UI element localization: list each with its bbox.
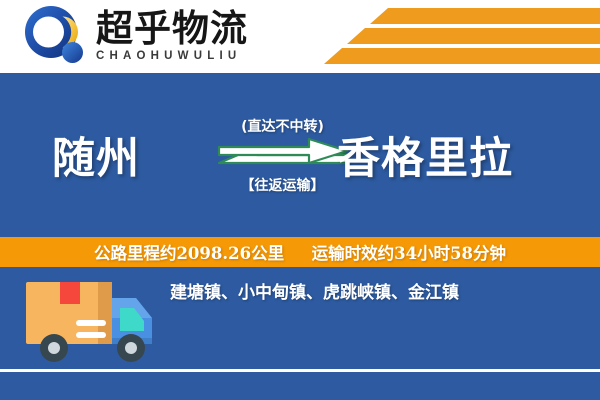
header: 超乎物流 CHAOHUWULIU: [0, 0, 600, 73]
info-bar: 公路里程约2098.26公里 运输时效约34小时58分钟: [0, 237, 600, 267]
served-towns-list: 建塘镇、小中甸镇、虎跳峡镇、金江镇: [170, 278, 459, 303]
brand-name-cn: 超乎物流: [96, 10, 248, 48]
speed-stripes-icon: [290, 0, 600, 73]
bidirectional-arrow-icon: [217, 137, 349, 173]
circle-crescent-logo-icon: [22, 4, 88, 68]
bottom-divider: [0, 369, 600, 372]
destination-city: 香格里拉: [337, 124, 513, 186]
delivery-truck-icon: [20, 272, 170, 368]
logistics-route-banner: 超乎物流 CHAOHUWULIU 随州 (直达不中转) 【往返运输】: [0, 0, 600, 400]
info-bar-content: 公路里程约2098.26公里 运输时效约34小时58分钟: [94, 240, 506, 264]
direct-route-tag: (直达不中转): [241, 116, 324, 136]
distance-text: 公路里程约2098.26公里: [94, 244, 284, 263]
route-middle: (直达不中转) 【往返运输】: [215, 105, 350, 205]
brand-text: 超乎物流 CHAOHUWULIU: [96, 10, 248, 62]
brand-logo: 超乎物流 CHAOHUWULIU: [22, 4, 248, 68]
route-section: 随州 (直达不中转) 【往返运输】 香格里拉: [0, 73, 600, 237]
origin-city: 随州: [52, 124, 140, 186]
duration-text: 运输时效约34小时58分钟: [312, 244, 506, 263]
brand-name-en: CHAOHUWULIU: [96, 50, 248, 62]
round-trip-tag: 【往返运输】: [241, 175, 325, 195]
